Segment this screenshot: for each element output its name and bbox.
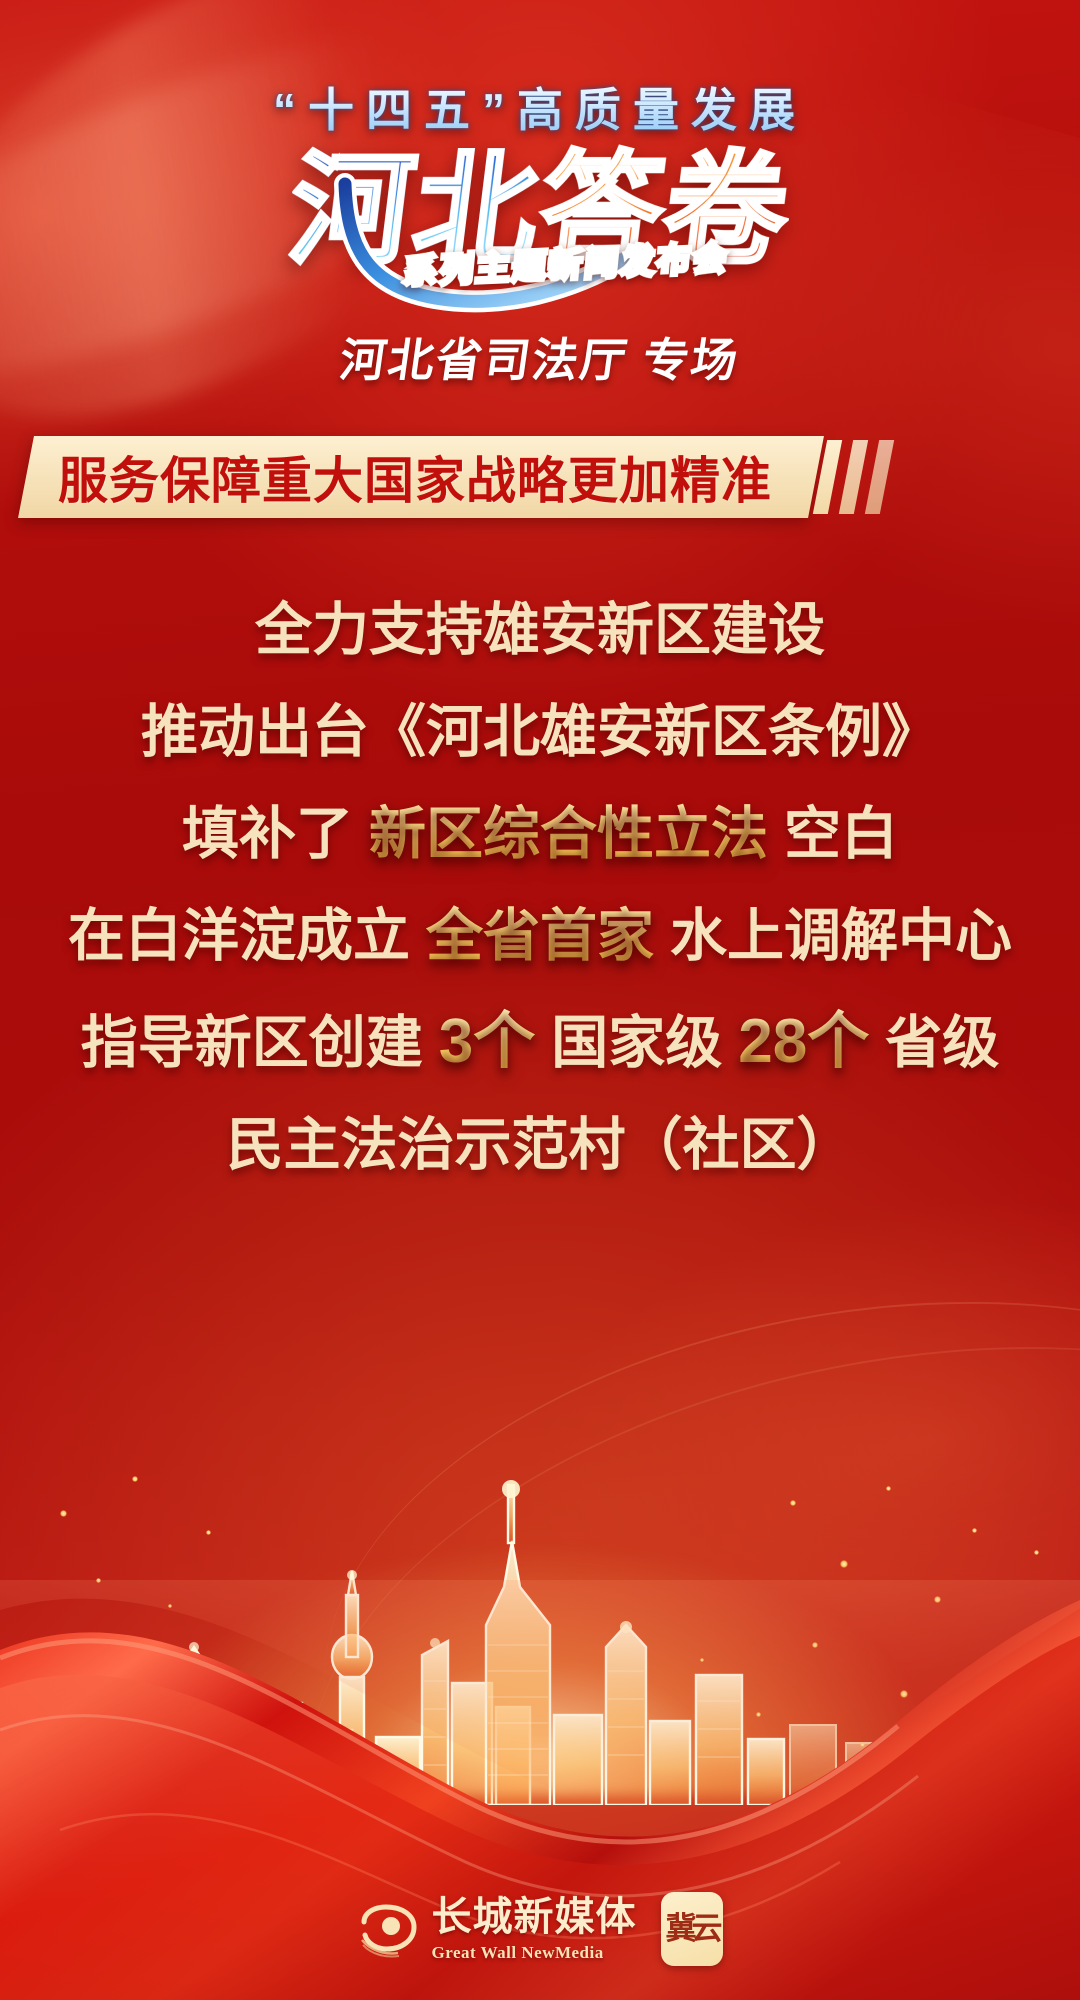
line-highlight: 新区综合性立法 [369, 802, 768, 866]
line-text: 指导新区创建 [81, 1011, 423, 1075]
banner-slash [865, 440, 894, 514]
line-text: 在白洋淀成立 [68, 904, 410, 968]
great-wall-swirl-logo-icon [358, 1900, 420, 1958]
poster-header: “十四五”高质量发展 河北 答卷 [0, 0, 1080, 390]
greatwall-name-cn: 长城新媒体 [432, 1897, 637, 1937]
line-text: 空白 [784, 802, 898, 866]
content-line: 在白洋淀成立全省首家水上调解中心 [0, 886, 1080, 988]
greatwall-wordmark: 长城新媒体 Great Wall NewMedia [432, 1897, 637, 1961]
line-text: 全力支持雄安新区建设 [255, 598, 825, 662]
jiyun-app-badge[interactable]: 冀云 [661, 1892, 723, 1966]
poster-root: “十四五”高质量发展 河北 答卷 [0, 0, 1080, 2000]
content-line: 全力支持雄安新区建设 [0, 580, 1080, 682]
jiyun-label: 冀云 [666, 1914, 718, 1943]
kicker-title: “十四五”高质量发展 [0, 74, 1080, 140]
banner-title: 服务保障重大国家战略更加精准 [58, 441, 772, 513]
banner-slashes-icon [820, 440, 887, 514]
line-text: 国家级 [551, 1011, 722, 1075]
line-text: 水上调解中心 [670, 904, 1012, 968]
venue-title: 河北省司法厅 专场 [0, 324, 1080, 390]
content-line: 指导新区创建3个国家级28个省级 [0, 988, 1080, 1095]
content-line: 填补了新区综合性立法空白 [0, 784, 1080, 886]
footer-logos: 长城新媒体 Great Wall NewMedia 冀云 [0, 1892, 1080, 1966]
line-text: 填补了 [182, 802, 353, 866]
content-line: 推动出台《河北雄安新区条例》 [0, 682, 1080, 784]
line-highlight: 全省首家 [426, 904, 654, 968]
greatwall-logo: 长城新媒体 Great Wall NewMedia [358, 1897, 637, 1961]
section-banner: 服务保障重大国家战略更加精准 [0, 436, 1080, 528]
banner-text-wrap: 服务保障重大国家战略更加精准 [50, 436, 826, 518]
line-number: 3个 [439, 1007, 535, 1076]
line-number: 28个 [738, 1007, 869, 1076]
content-line: 民主法治示范村（社区） [0, 1095, 1080, 1197]
line-text: 推动出台《河北雄安新区条例》 [141, 700, 939, 764]
banner-slash [839, 440, 868, 514]
series-logo: 河北 答卷 系列主题新闻发布会 [291, 148, 789, 272]
content-lines: 全力支持雄安新区建设推动出台《河北雄安新区条例》填补了新区综合性立法空白在白洋淀… [0, 580, 1080, 1196]
line-text: 民主法治示范村（社区） [227, 1113, 854, 1177]
line-text: 省级 [885, 1011, 999, 1075]
greatwall-name-en: Great Wall NewMedia [432, 1944, 604, 1961]
